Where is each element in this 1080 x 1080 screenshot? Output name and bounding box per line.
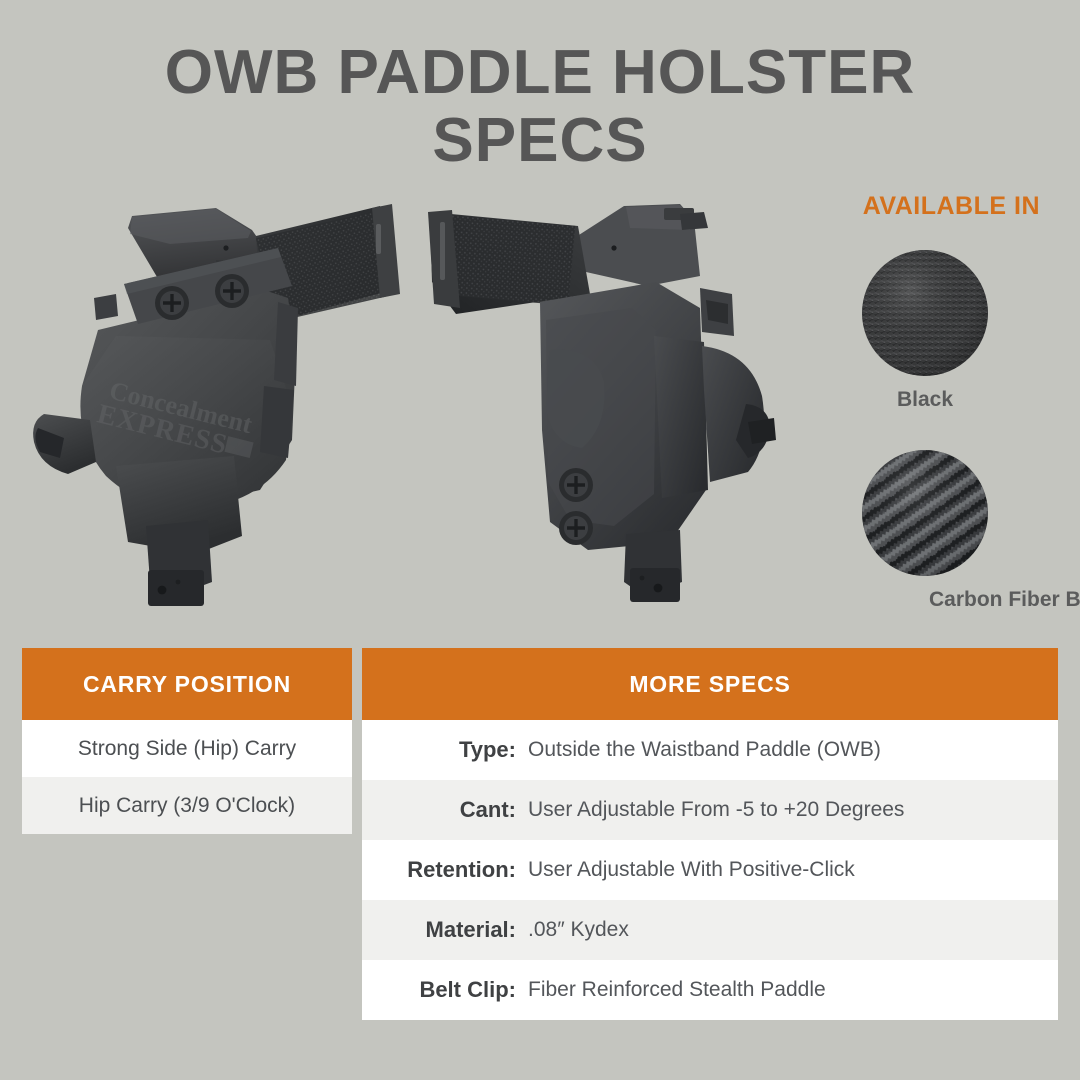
black-kydex-texture-swatch bbox=[862, 250, 988, 376]
more-specs-table-header: MORE SPECS bbox=[362, 648, 1058, 720]
table-row: Hip Carry (3/9 O'Clock) bbox=[22, 777, 352, 834]
screw-upper bbox=[155, 286, 189, 320]
infographic-canvas: OWB PADDLE HOLSTER SPECS bbox=[0, 0, 1080, 1080]
table-row: Strong Side (Hip) Carry bbox=[22, 720, 352, 777]
table-row: Material: .08″ Kydex bbox=[362, 900, 1058, 960]
carbon-fiber-weave-swatch bbox=[862, 450, 988, 576]
screw-lower bbox=[559, 511, 593, 545]
spec-value: User Adjustable From -5 to +20 Degrees bbox=[528, 798, 1058, 822]
spec-value: .08″ Kydex bbox=[528, 918, 1058, 942]
spec-value: User Adjustable With Positive-Click bbox=[528, 858, 1058, 882]
owb-paddle-holster-front-view: Concealment EXPRESS bbox=[20, 190, 440, 610]
available-in-heading: AVAILABLE IN bbox=[863, 192, 1040, 221]
product-photo-group: Concealment EXPRESS bbox=[0, 190, 800, 620]
carry-position-table-header: CARRY POSITION bbox=[22, 648, 352, 720]
carry-position-value: Hip Carry (3/9 O'Clock) bbox=[79, 794, 295, 818]
spec-label: Type: bbox=[362, 737, 528, 763]
swatch-carbon-fiber-black-label: Carbon Fiber Black bbox=[929, 588, 1055, 612]
page-title-line-1: OWB PADDLE HOLSTER bbox=[0, 42, 1080, 104]
table-row: Cant: User Adjustable From -5 to +20 Deg… bbox=[362, 780, 1058, 840]
swatch-black[interactable]: Black bbox=[862, 250, 988, 412]
spec-value: Outside the Waistband Paddle (OWB) bbox=[528, 738, 1058, 762]
page-title: OWB PADDLE HOLSTER SPECS bbox=[0, 42, 1080, 172]
spec-label: Material: bbox=[362, 917, 528, 943]
page-title-line-2: SPECS bbox=[0, 110, 1080, 172]
table-row: Belt Clip: Fiber Reinforced Stealth Padd… bbox=[362, 960, 1058, 1020]
more-specs-table: MORE SPECS Type: Outside the Waistband P… bbox=[362, 648, 1058, 1020]
carry-position-value: Strong Side (Hip) Carry bbox=[78, 737, 296, 761]
table-row: Type: Outside the Waistband Paddle (OWB) bbox=[362, 720, 1058, 780]
spec-label: Belt Clip: bbox=[362, 977, 528, 1003]
screw-upper bbox=[559, 468, 593, 502]
table-row: Retention: User Adjustable With Positive… bbox=[362, 840, 1058, 900]
swatch-black-label: Black bbox=[862, 388, 988, 412]
spec-label: Cant: bbox=[362, 797, 528, 823]
spec-value: Fiber Reinforced Stealth Paddle bbox=[528, 978, 1058, 1002]
spec-label: Retention: bbox=[362, 857, 528, 883]
swatch-carbon-fiber-black[interactable]: Carbon Fiber Black bbox=[862, 450, 988, 612]
carry-position-table: CARRY POSITION Strong Side (Hip) Carry H… bbox=[22, 648, 352, 834]
screw-lower bbox=[215, 274, 249, 308]
owb-paddle-holster-rear-view bbox=[418, 190, 808, 610]
